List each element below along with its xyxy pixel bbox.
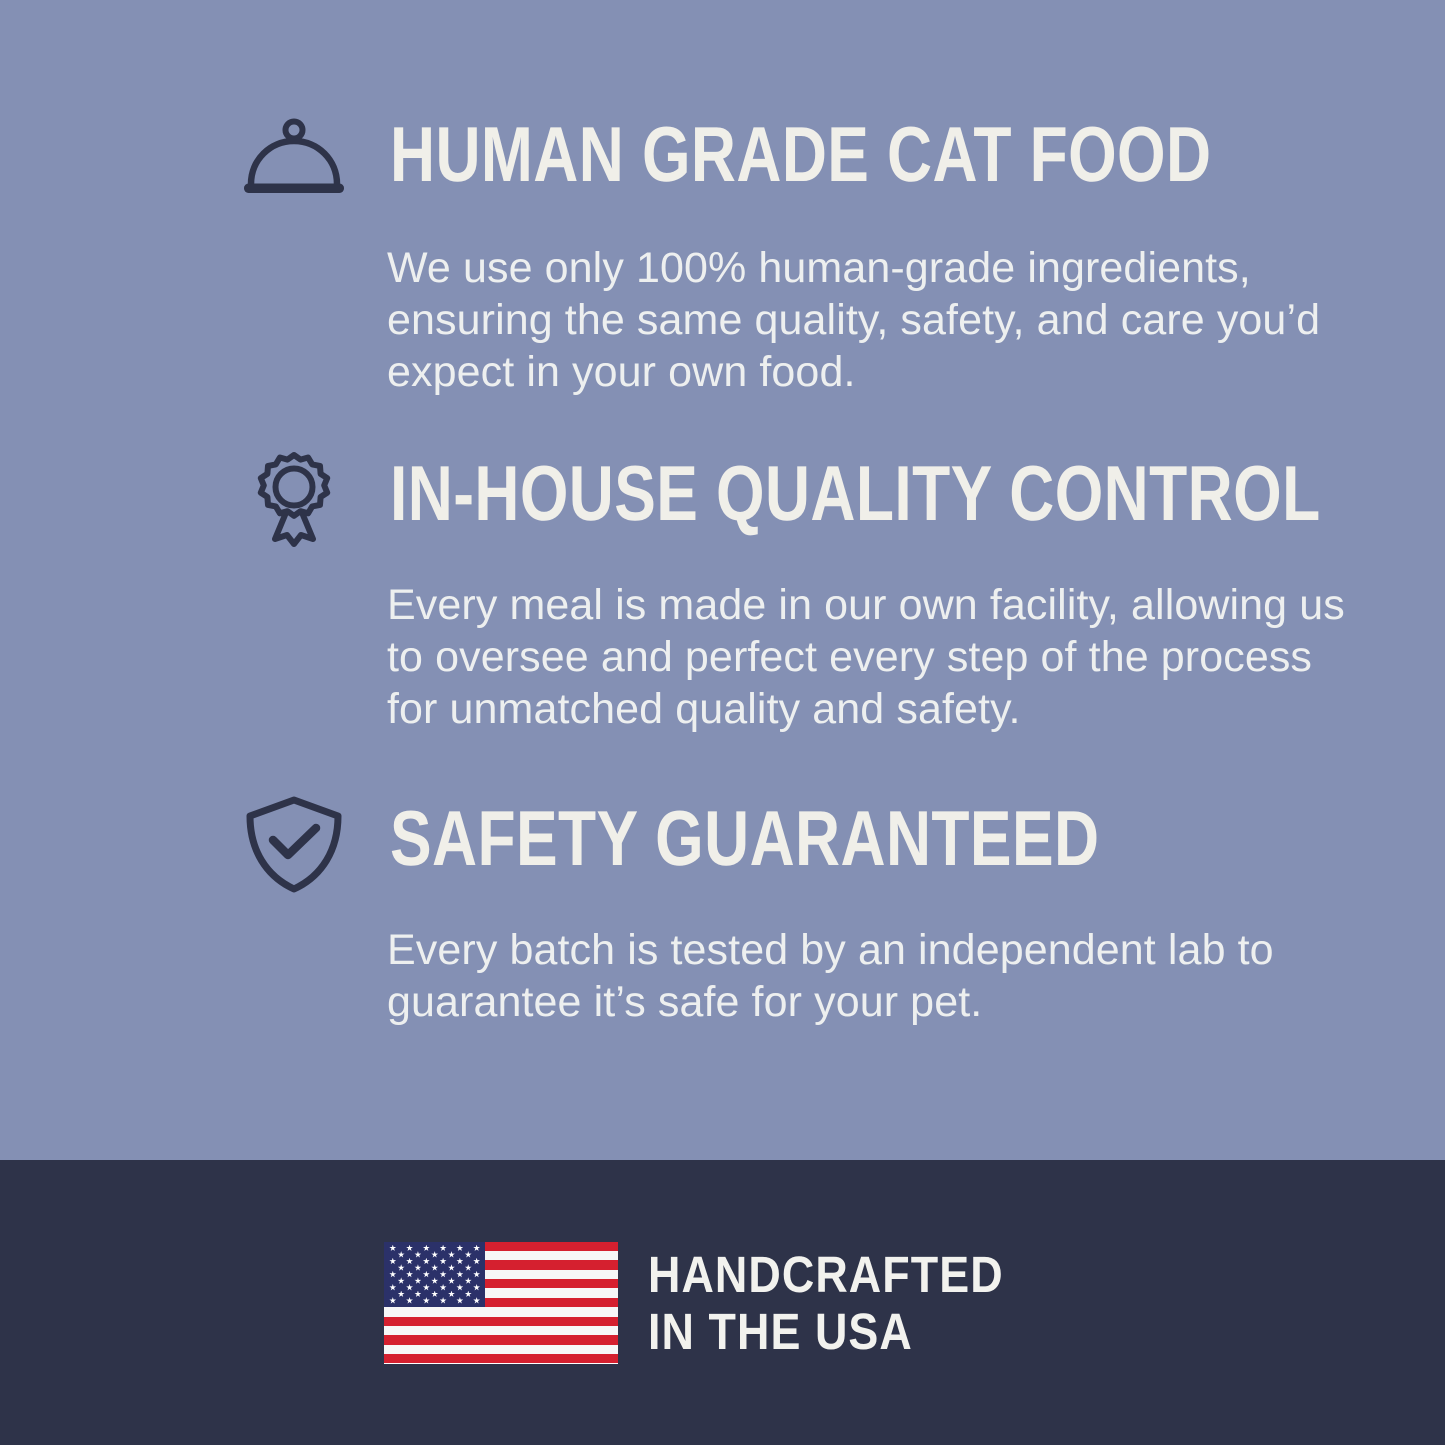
flag-star	[423, 1271, 430, 1278]
footer-content: HANDCRAFTED IN THE USA	[384, 1242, 1052, 1364]
flag-star	[440, 1297, 447, 1304]
flag-stripe	[384, 1317, 618, 1326]
feature-description-line: guarantee it’s safe for your pet.	[387, 976, 1238, 1028]
flag-star	[440, 1271, 447, 1278]
flag-star	[406, 1245, 413, 1252]
feature-title: IN-HOUSE QUALITY CONTROL	[390, 445, 1321, 541]
flag-star	[456, 1245, 463, 1252]
flag-star	[440, 1284, 447, 1291]
flag-star	[389, 1245, 396, 1252]
flag-star	[473, 1284, 480, 1291]
feature-header: HUMAN GRADE CAT FOOD	[238, 104, 1238, 216]
flag-stripe	[384, 1354, 618, 1363]
flag-star	[431, 1277, 438, 1284]
flag-star	[406, 1258, 413, 1265]
feature-description-line: ensuring the same quality, safety, and c…	[387, 294, 1238, 346]
flag-star	[456, 1284, 463, 1291]
flag-star	[431, 1264, 438, 1271]
flag-star	[473, 1258, 480, 1265]
feature-header: IN-HOUSE QUALITY CONTROL	[238, 443, 1238, 555]
flag-star	[456, 1297, 463, 1304]
feature-description-line: Every batch is tested by an independent …	[387, 924, 1238, 976]
flag-star	[398, 1277, 405, 1284]
flag-star	[423, 1258, 430, 1265]
flag-star	[423, 1245, 430, 1252]
feature-item-human-grade: HUMAN GRADE CAT FOOD We use only 100% hu…	[238, 104, 1238, 398]
feature-description-line: to oversee and perfect every step of the…	[387, 631, 1238, 683]
flag-star	[456, 1271, 463, 1278]
flag-star	[431, 1291, 438, 1298]
feature-description: Every batch is tested by an independent …	[238, 900, 1238, 1028]
flag-star	[406, 1297, 413, 1304]
flag-star	[473, 1297, 480, 1304]
feature-title: SAFETY GUARANTEED	[390, 790, 1099, 886]
flag-star	[448, 1291, 455, 1298]
flag-star	[440, 1245, 447, 1252]
flag-stripe	[384, 1326, 618, 1335]
flag-star	[423, 1284, 430, 1291]
flag-star	[465, 1264, 472, 1271]
infographic-panel: HUMAN GRADE CAT FOOD We use only 100% hu…	[0, 0, 1445, 1445]
cloche-food-dome-icon	[238, 104, 356, 216]
flag-star	[465, 1277, 472, 1284]
flag-star	[456, 1258, 463, 1265]
feature-description-line: expect in your own food.	[387, 346, 1238, 398]
shield-check-icon	[238, 788, 356, 900]
flag-star	[414, 1251, 421, 1258]
flag-star	[431, 1251, 438, 1258]
flag-star	[398, 1291, 405, 1298]
flag-stripe	[384, 1307, 618, 1316]
flag-star	[465, 1251, 472, 1258]
flag-star	[414, 1277, 421, 1284]
usa-flag-icon	[384, 1242, 618, 1364]
flag-stripe	[384, 1335, 618, 1344]
flag-star	[423, 1297, 430, 1304]
feature-item-quality-control: IN-HOUSE QUALITY CONTROL Every meal is m…	[238, 443, 1238, 735]
feature-list: HUMAN GRADE CAT FOOD We use only 100% hu…	[0, 0, 1445, 1160]
flag-canton	[384, 1242, 485, 1308]
feature-title: HUMAN GRADE CAT FOOD	[390, 106, 1211, 202]
feature-header: SAFETY GUARANTEED	[238, 788, 1238, 900]
flag-star	[448, 1251, 455, 1258]
footer-text-line-2: IN THE USA	[648, 1303, 1004, 1360]
flag-star	[406, 1271, 413, 1278]
flag-star	[389, 1258, 396, 1265]
feature-description-line: Every meal is made in our own facility, …	[387, 579, 1238, 631]
feature-description-line: We use only 100% human-grade ingredients…	[387, 242, 1238, 294]
flag-star	[473, 1271, 480, 1278]
flag-star	[398, 1251, 405, 1258]
footer-text-line-1: HANDCRAFTED	[648, 1246, 1004, 1303]
flag-star	[473, 1245, 480, 1252]
footer-banner: HANDCRAFTED IN THE USA	[0, 1160, 1445, 1445]
flag-star	[389, 1297, 396, 1304]
award-rosette-ribbon-icon	[238, 443, 356, 555]
flag-star	[448, 1277, 455, 1284]
flag-star	[440, 1258, 447, 1265]
feature-description-line: for unmatched quality and safety.	[387, 683, 1238, 735]
flag-star	[448, 1264, 455, 1271]
flag-star	[389, 1284, 396, 1291]
flag-star	[406, 1284, 413, 1291]
flag-star	[465, 1291, 472, 1298]
feature-description: We use only 100% human-grade ingredients…	[238, 216, 1238, 398]
flag-star	[398, 1264, 405, 1271]
flag-star	[414, 1291, 421, 1298]
flag-star	[389, 1271, 396, 1278]
flag-star	[414, 1264, 421, 1271]
handcrafted-in-usa-label: HANDCRAFTED IN THE USA	[648, 1246, 1004, 1360]
feature-item-safety-guaranteed: SAFETY GUARANTEED Every batch is tested …	[238, 788, 1238, 1028]
flag-stripe	[384, 1345, 618, 1354]
feature-description: Every meal is made in our own facility, …	[238, 555, 1238, 735]
